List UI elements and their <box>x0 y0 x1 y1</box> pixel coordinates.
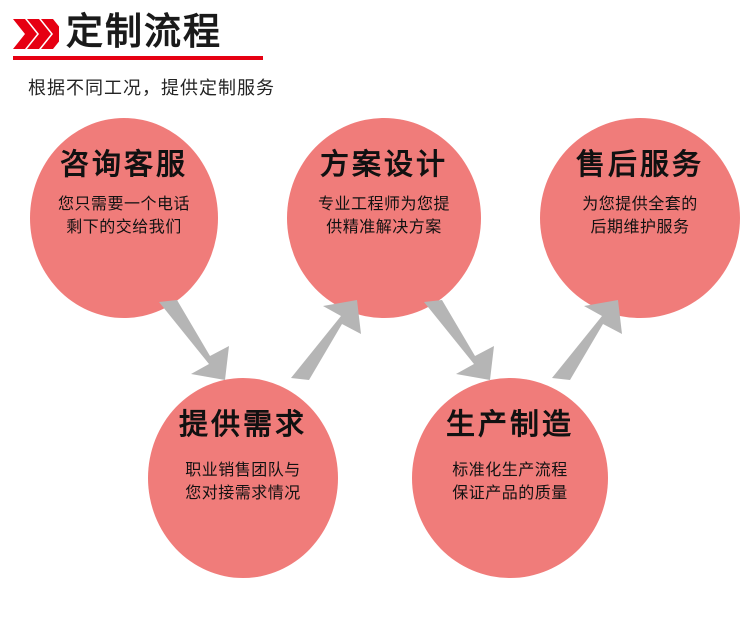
flow-node-description-line-2: 供精准解决方案 <box>318 216 450 239</box>
flow-node-description-line-2: 您对接需求情况 <box>185 482 301 505</box>
flow-node-description-line-1: 职业销售团队与 <box>185 459 301 482</box>
flow-node-description-line-1: 您只需要一个电话 <box>58 193 190 216</box>
flow-node-title: 咨询客服 <box>60 150 188 182</box>
flow-node-description-line-2: 后期维护服务 <box>582 216 698 239</box>
flow-node-consult-service[interactable]: 咨询客服 您只需要一个电话 剩下的交给我们 <box>30 118 218 318</box>
page-header: 定制流程 根据不同工况，提供定制服务 <box>0 0 750 105</box>
page-title: 定制流程 <box>66 9 222 55</box>
flow-node-title: 方案设计 <box>320 150 448 182</box>
flow-node-description: 标准化生产流程 保证产品的质量 <box>452 459 568 505</box>
arrow-up-right-icon <box>548 300 626 380</box>
flow-node-title: 提供需求 <box>179 410 307 442</box>
flow-node-scheme-design[interactable]: 方案设计 专业工程师为您提 供精准解决方案 <box>287 118 481 318</box>
flow-node-description-line-2: 保证产品的质量 <box>452 482 568 505</box>
flow-node-description-line-1: 专业工程师为您提 <box>318 193 450 216</box>
flow-node-title: 售后服务 <box>576 150 704 182</box>
page-subtitle: 根据不同工况，提供定制服务 <box>28 74 275 100</box>
flow-node-title: 生产制造 <box>446 410 574 442</box>
title-underline-rule <box>13 56 263 60</box>
flow-node-after-sales-service[interactable]: 售后服务 为您提供全套的 后期维护服务 <box>540 118 740 318</box>
flow-node-description-line-2: 剩下的交给我们 <box>58 216 190 239</box>
flow-node-description: 您只需要一个电话 剩下的交给我们 <box>58 193 190 239</box>
flow-node-production-manufacture[interactable]: 生产制造 标准化生产流程 保证产品的质量 <box>412 378 608 578</box>
flow-node-description: 为您提供全套的 后期维护服务 <box>582 193 698 239</box>
customization-process-infographic: 定制流程 根据不同工况，提供定制服务 咨询客服 您只需要一个电话 剩下的交给我们… <box>0 0 750 623</box>
arrow-down-right-icon <box>420 300 498 380</box>
flow-node-description: 专业工程师为您提 供精准解决方案 <box>318 193 450 239</box>
flow-node-description-line-1: 为您提供全套的 <box>582 193 698 216</box>
arrow-up-right-icon <box>287 300 365 380</box>
flow-node-description: 职业销售团队与 您对接需求情况 <box>185 459 301 505</box>
triple-chevron-right-icon <box>13 19 59 49</box>
flow-node-provide-requirement[interactable]: 提供需求 职业销售团队与 您对接需求情况 <box>148 378 338 578</box>
arrow-down-right-icon <box>155 300 233 380</box>
flow-node-description-line-1: 标准化生产流程 <box>452 459 568 482</box>
